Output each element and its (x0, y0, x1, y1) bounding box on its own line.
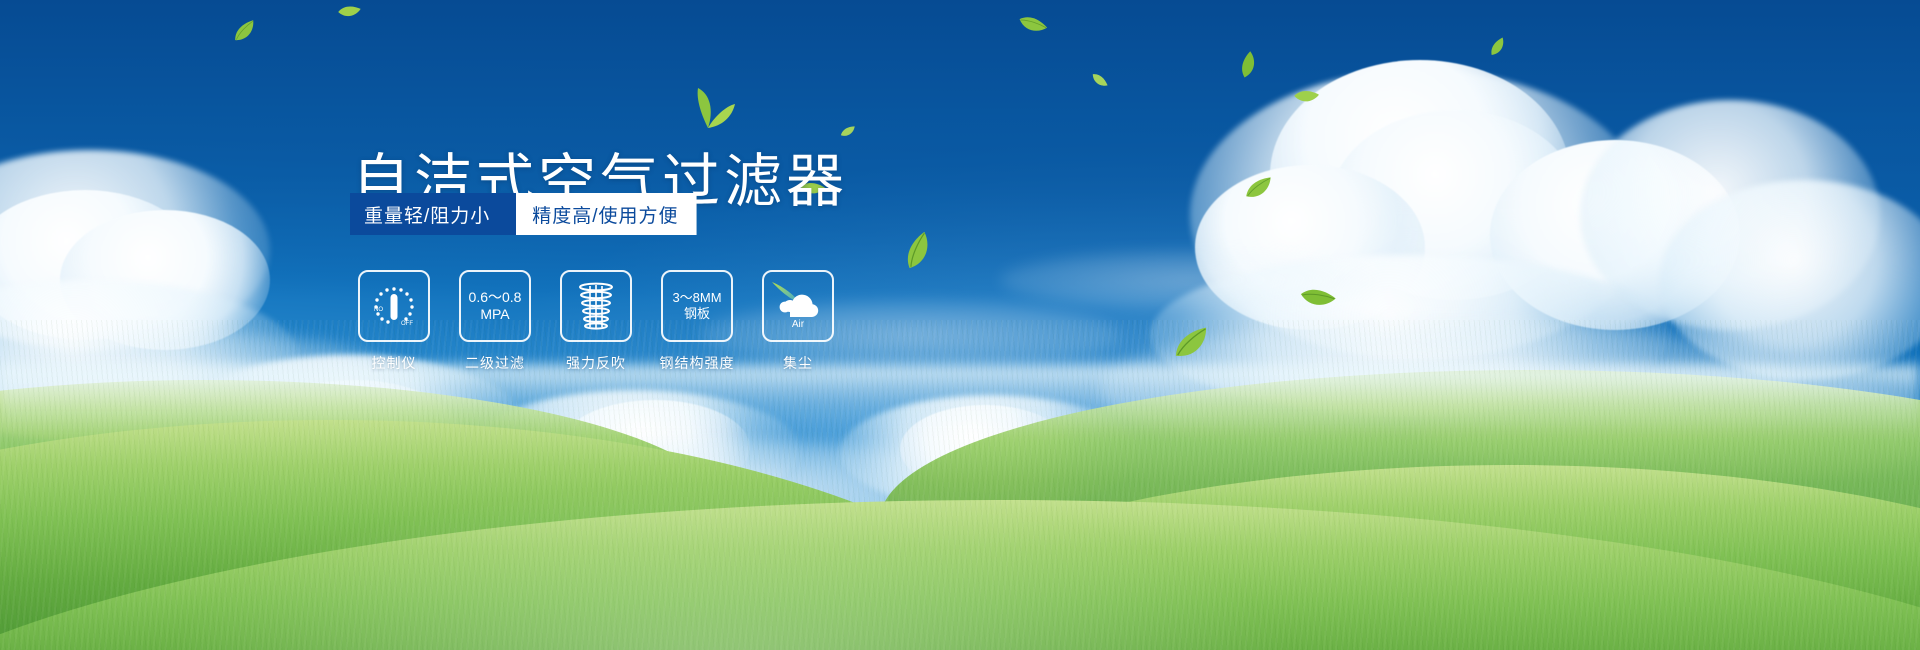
feature-box: 3～8MM 钢板 (661, 270, 733, 342)
feature-box (560, 270, 632, 342)
feature-caption: 集尘 (783, 353, 813, 373)
control-dial-icon: NO OFF (368, 280, 420, 332)
tagline-primary: 重量轻/阻力小 (350, 193, 516, 235)
feature-caption: 二级过滤 (465, 353, 525, 373)
filter-cartridge-icon (573, 280, 619, 332)
feature-item-dust[interactable]: Air 集尘 (762, 270, 834, 373)
air-label: Air (792, 319, 805, 330)
feature-caption: 强力反吹 (566, 353, 626, 373)
feature-item-steel[interactable]: 3～8MM 钢板 钢结构强度 (661, 270, 733, 373)
air-cloud-icon: Air (770, 281, 826, 331)
feature-item-control[interactable]: NO OFF 控制仪 (358, 270, 430, 373)
title-leaf-icon (680, 86, 736, 128)
feature-list: NO OFF 控制仪 0.6～0.8 MPA 二级过滤 (358, 270, 834, 373)
pressure-text-icon: 0.6～0.8 MPA (469, 289, 522, 324)
feature-box: Air (762, 270, 834, 342)
feature-box: 0.6～0.8 MPA (459, 270, 531, 342)
tagline-bar: 重量轻/阻力小 精度高/使用方便 (350, 193, 697, 235)
hero-banner: 自洁式空气过滤器 重量轻/阻力小 精度高/使用方便 (0, 0, 1920, 650)
svg-text:OFF: OFF (401, 321, 413, 327)
feature-item-pressure[interactable]: 0.6～0.8 MPA 二级过滤 (459, 270, 531, 373)
tagline-secondary: 精度高/使用方便 (498, 193, 696, 235)
feature-item-blowback[interactable]: 强力反吹 (560, 270, 632, 373)
feature-caption: 钢结构强度 (660, 353, 735, 373)
feature-caption: 控制仪 (372, 353, 417, 373)
svg-text:NO: NO (374, 307, 383, 313)
banner-content: 自洁式空气过滤器 重量轻/阻力小 精度高/使用方便 (0, 0, 1920, 650)
steel-plate-text-icon: 3～8MM 钢板 (672, 290, 721, 323)
feature-box: NO OFF (358, 270, 430, 342)
